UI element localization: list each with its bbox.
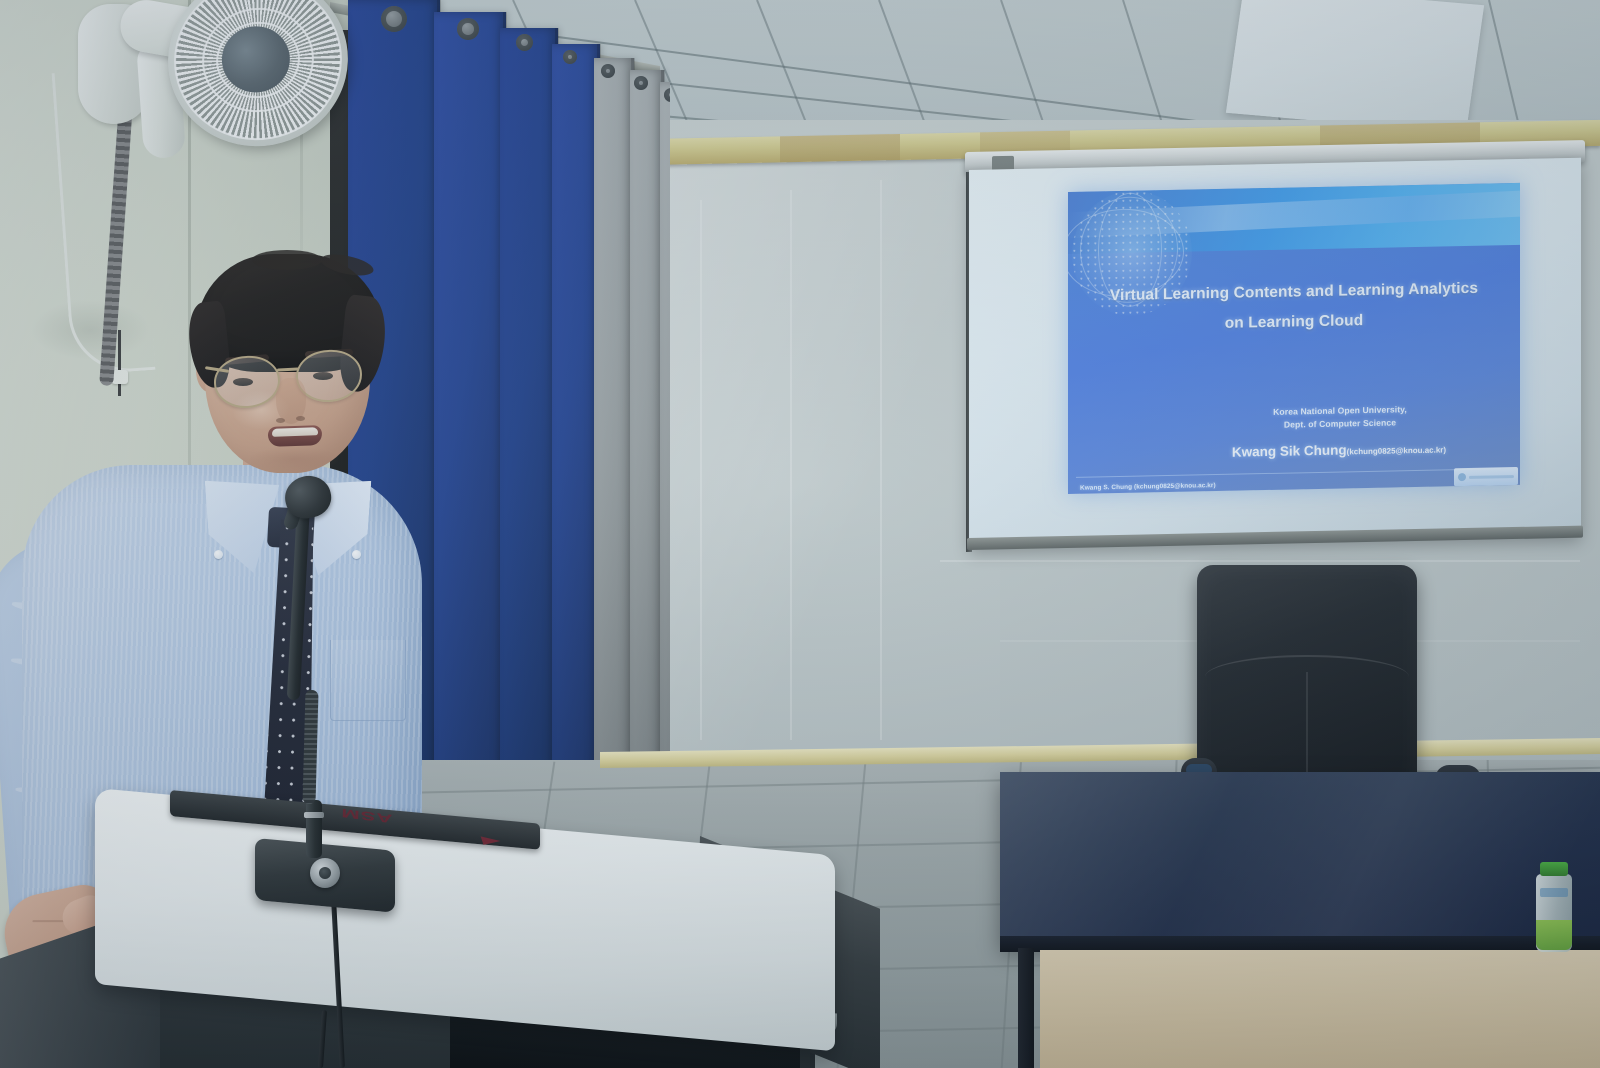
collar-button-left (214, 550, 223, 559)
hair-wisp-1 (252, 250, 322, 270)
desk-top-surface (1000, 772, 1600, 947)
lecture-hall-photo: Virtual Learning Contents and Learning A… (0, 0, 1600, 1068)
nostril-right (296, 416, 305, 421)
wall-crease-3 (880, 180, 882, 740)
slide-author-email: (kchung0825@knou.ac.kr) (1347, 445, 1446, 456)
back-wall-sheen (640, 150, 1000, 770)
curtain-panel-4 (594, 58, 634, 778)
slide-footer-rule (1076, 468, 1501, 478)
badge-dot-icon (1458, 473, 1466, 481)
teeth (272, 427, 318, 437)
slide-logo-badge (1454, 467, 1518, 486)
curtain-grommet-4 (601, 64, 615, 78)
slide-author-name: Kwang Sik Chung (1232, 442, 1347, 459)
wall-crease-2 (790, 190, 792, 740)
shirt-chest-pocket (330, 640, 406, 721)
wall-crease-1 (700, 200, 702, 740)
curtain-panel-6 (660, 82, 670, 762)
bottle-cap (1540, 862, 1568, 876)
desk-front-panel (1040, 950, 1600, 1068)
collar-button-right (352, 550, 361, 559)
slide-author: Kwang Sik Chung(kchung0825@knou.ac.kr) (1068, 439, 1520, 463)
wall-crease-4 (940, 560, 1580, 562)
chin-shadow (248, 446, 340, 472)
water-bottle (1534, 862, 1574, 952)
curtain-panel-5 (630, 70, 664, 770)
mic-stem-lower (306, 800, 322, 858)
bottle-label-text (1540, 888, 1568, 897)
curtain-grommet-0 (381, 6, 407, 32)
nostril-left (276, 418, 285, 423)
slide-title: Virtual Learning Contents and Learning A… (1068, 273, 1520, 343)
badge-bar (1469, 475, 1514, 479)
slide-footer-text: Kwang S. Chung (kchung0825@knou.ac.kr) (1080, 482, 1216, 492)
projected-slide: Virtual Learning Contents and Learning A… (1068, 183, 1520, 494)
curtain-grommet-1 (457, 18, 479, 40)
slide-affiliation: Korea National Open University, Dept. of… (1068, 401, 1520, 436)
mic-connector-knob (310, 858, 340, 888)
curtain-grommet-5 (634, 76, 648, 90)
bottle-label-green (1536, 920, 1572, 950)
curtain-panel-2 (500, 28, 558, 798)
mic-stem-band (304, 812, 324, 818)
ceiling-light-panel (1226, 0, 1484, 134)
curtain-panel-3 (552, 44, 600, 789)
desk-leg (1018, 948, 1034, 1068)
